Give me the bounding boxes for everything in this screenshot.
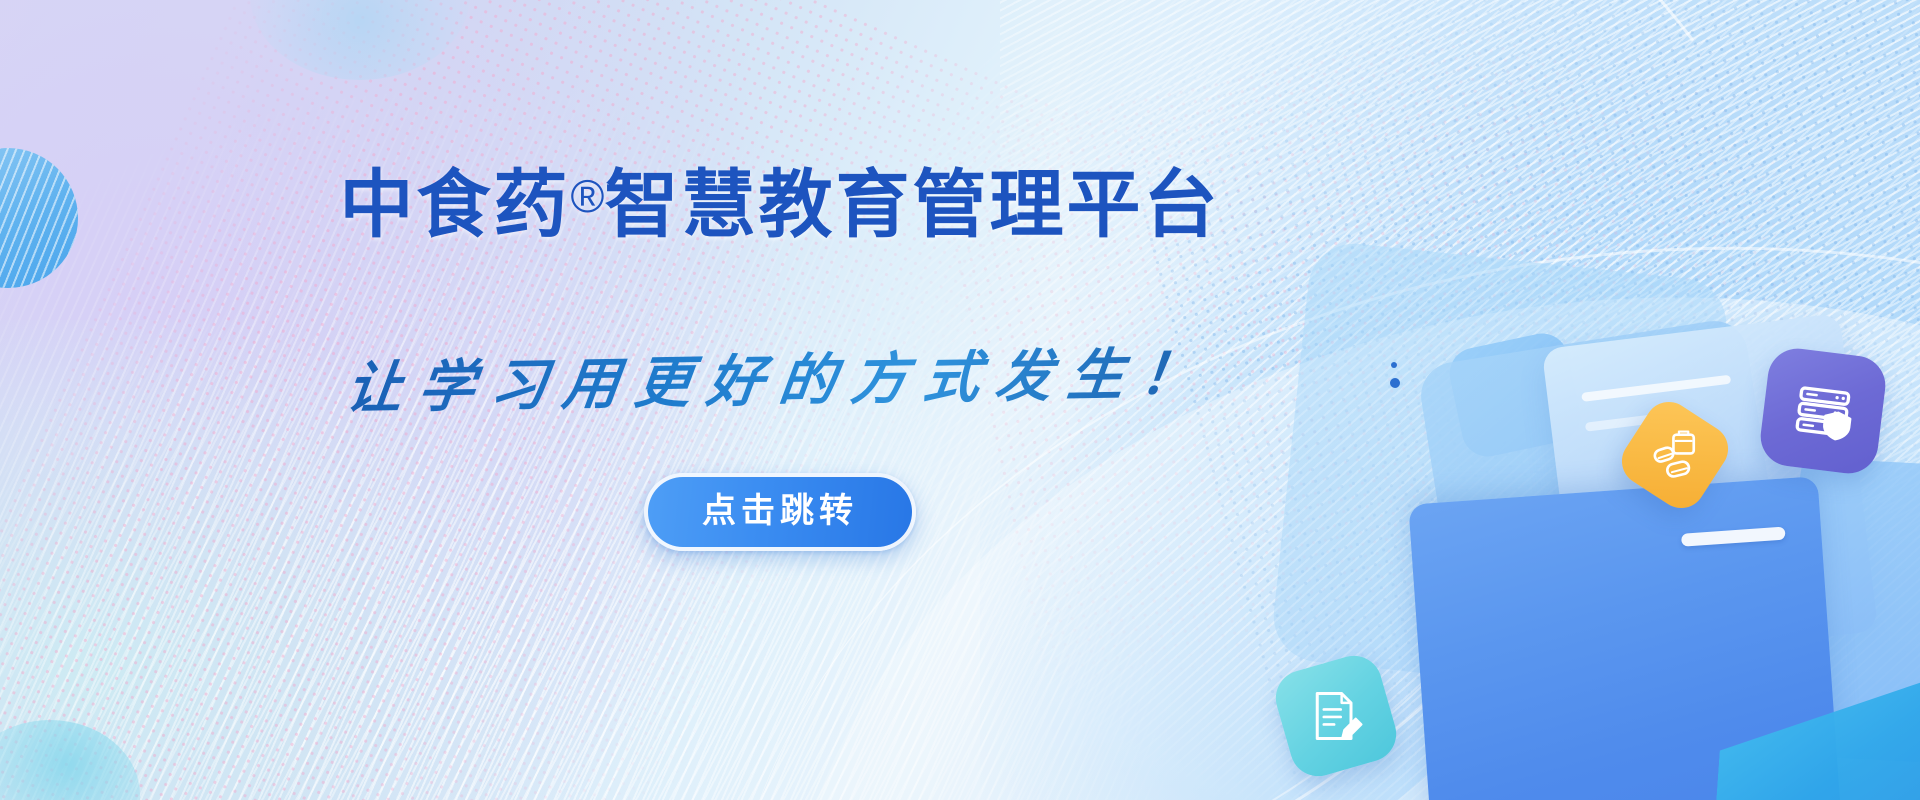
- page-subtitle: 让学习用更好的方式发生！: [342, 328, 1218, 424]
- hero-banner: 中食药®智慧教育管理平台 让学习用更好的方式发生！ 点击跳转: [0, 0, 1920, 800]
- registered-mark: ®: [571, 170, 605, 222]
- jump-button[interactable]: 点击跳转: [644, 473, 916, 551]
- page-title-brand: 中食药: [340, 163, 571, 246]
- page-title: 中食药®智慧教育管理平台: [340, 168, 1221, 242]
- cta-container: 点击跳转: [644, 473, 916, 551]
- blue-blob-top-left: [250, 0, 470, 80]
- page-title-suffix: 智慧教育管理平台: [604, 163, 1220, 246]
- decorative-dot-small: [1391, 362, 1397, 368]
- hero-illustration: [1220, 240, 1920, 800]
- decorative-dot-large: [1390, 378, 1400, 388]
- blue-circle-left: [0, 148, 78, 288]
- server-shield-icon: [1757, 345, 1889, 477]
- document-pencil-icon: [1269, 649, 1403, 783]
- cyan-blob-bottom-left: [0, 720, 140, 800]
- paper-line-1: [1581, 375, 1731, 402]
- folder-highlight-bar: [1681, 527, 1786, 547]
